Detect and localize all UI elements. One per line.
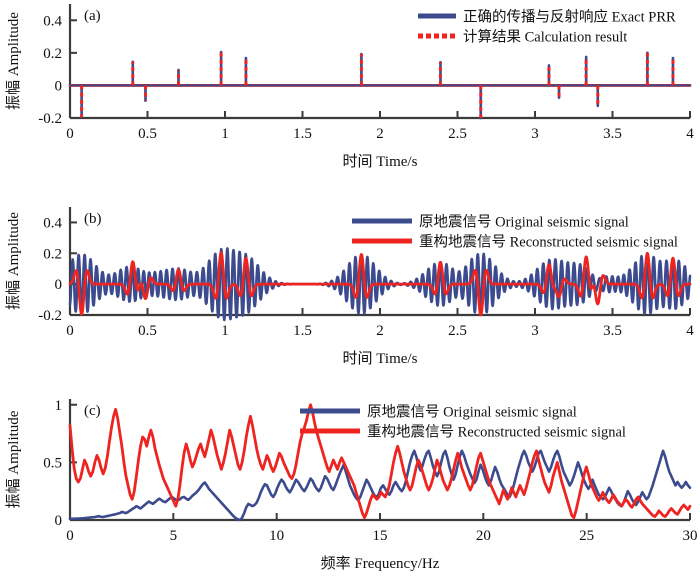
panel-b-seismic-signals: 00.511.522.533.54-0.200.20.4时间 Time/s振幅 … [0, 185, 700, 375]
y-tick-label: 0.5 [43, 455, 62, 471]
y-axis-title: 振幅 Amplitude [5, 12, 22, 110]
legend-label: 计算结果 Calculation result [463, 29, 627, 46]
panel-a-exact-prr: 00.511.522.533.54-0.200.20.4时间 Time/s振幅 … [0, 0, 700, 185]
chart-c-svg: 05101520253000.51频率 Frequency/Hz振幅 Ampli… [0, 375, 700, 581]
x-tick-label: 0.5 [138, 323, 157, 339]
y-axis-title: 振幅 Amplitude [5, 410, 22, 508]
y-axis-title: 振幅 Amplitude [5, 212, 22, 310]
x-tick-label: 1.5 [293, 323, 312, 339]
x-tick-label: 2.5 [448, 126, 467, 142]
chart-b-svg: 00.511.522.533.54-0.200.20.4时间 Time/s振幅 … [0, 185, 700, 375]
x-tick-label: 20 [476, 528, 491, 544]
x-tick-label: 4 [686, 126, 694, 142]
legend-label: 原地震信号 Original seismic signal [419, 214, 629, 231]
y-tick-label: 0.4 [43, 215, 62, 231]
x-tick-label: 2.5 [448, 323, 467, 339]
x-tick-label: 5 [170, 528, 178, 544]
x-tick-label: 3.5 [603, 126, 622, 142]
y-tick-label: 0 [55, 277, 63, 293]
panel-tag: (a) [84, 8, 101, 24]
series-original-spectrum [70, 451, 690, 520]
legend: 原地震信号 Original seismic signal重构地震信号 Reco… [300, 404, 626, 441]
x-tick-label: 30 [683, 528, 698, 544]
x-tick-label: 10 [269, 528, 284, 544]
x-tick-label: 25 [579, 528, 594, 544]
x-tick-label: 3 [531, 323, 539, 339]
x-tick-label: 15 [373, 528, 388, 544]
seismic-reconstruction-figure: 00.511.522.533.54-0.200.20.4时间 Time/s振幅 … [0, 0, 700, 581]
panel-tag: (c) [84, 403, 101, 419]
legend: 正确的传播与反射响应 Exact PRR计算结果 Calculation res… [418, 8, 676, 46]
x-tick-label: 1 [221, 323, 229, 339]
y-tick-label: -0.2 [38, 308, 62, 324]
chart-a-svg: 00.511.522.533.54-0.200.20.4时间 Time/s振幅 … [0, 0, 700, 185]
legend-label: 原地震信号 Original seismic signal [367, 404, 577, 421]
x-axis-title: 时间 Time/s [343, 153, 418, 170]
panel-c-amplitude-spectrum: 05101520253000.51频率 Frequency/Hz振幅 Ampli… [0, 375, 700, 581]
x-axis-title: 时间 Time/s [343, 350, 418, 367]
y-tick-label: 0.2 [43, 46, 62, 62]
x-tick-label: 0 [66, 126, 74, 142]
x-tick-label: 2 [376, 323, 384, 339]
legend: 原地震信号 Original seismic signal重构地震信号 Reco… [352, 214, 678, 251]
legend-label: 正确的传播与反射响应 Exact PRR [463, 8, 676, 26]
x-tick-label: 0 [66, 528, 74, 544]
x-tick-label: 0.5 [138, 126, 157, 142]
legend-label: 重构地震信号 Reconstructed seismic signal [367, 424, 626, 441]
y-tick-label: 0.4 [43, 13, 62, 29]
x-tick-label: 1 [221, 126, 229, 142]
x-tick-label: 1.5 [293, 126, 312, 142]
x-tick-label: 4 [686, 323, 694, 339]
x-tick-label: 3.5 [603, 323, 622, 339]
legend-label: 重构地震信号 Reconstructed seismic signal [419, 234, 678, 251]
x-tick-label: 0 [66, 323, 74, 339]
x-tick-label: 3 [531, 126, 539, 142]
y-tick-label: 1 [55, 398, 63, 414]
x-axis-title: 频率 Frequency/Hz [321, 555, 440, 572]
y-tick-label: -0.2 [38, 111, 62, 127]
y-tick-label: 0 [55, 78, 63, 94]
panel-tag: (b) [84, 211, 102, 227]
x-tick-label: 2 [376, 126, 384, 142]
y-tick-label: 0 [55, 513, 63, 529]
y-tick-label: 0.2 [43, 246, 62, 262]
